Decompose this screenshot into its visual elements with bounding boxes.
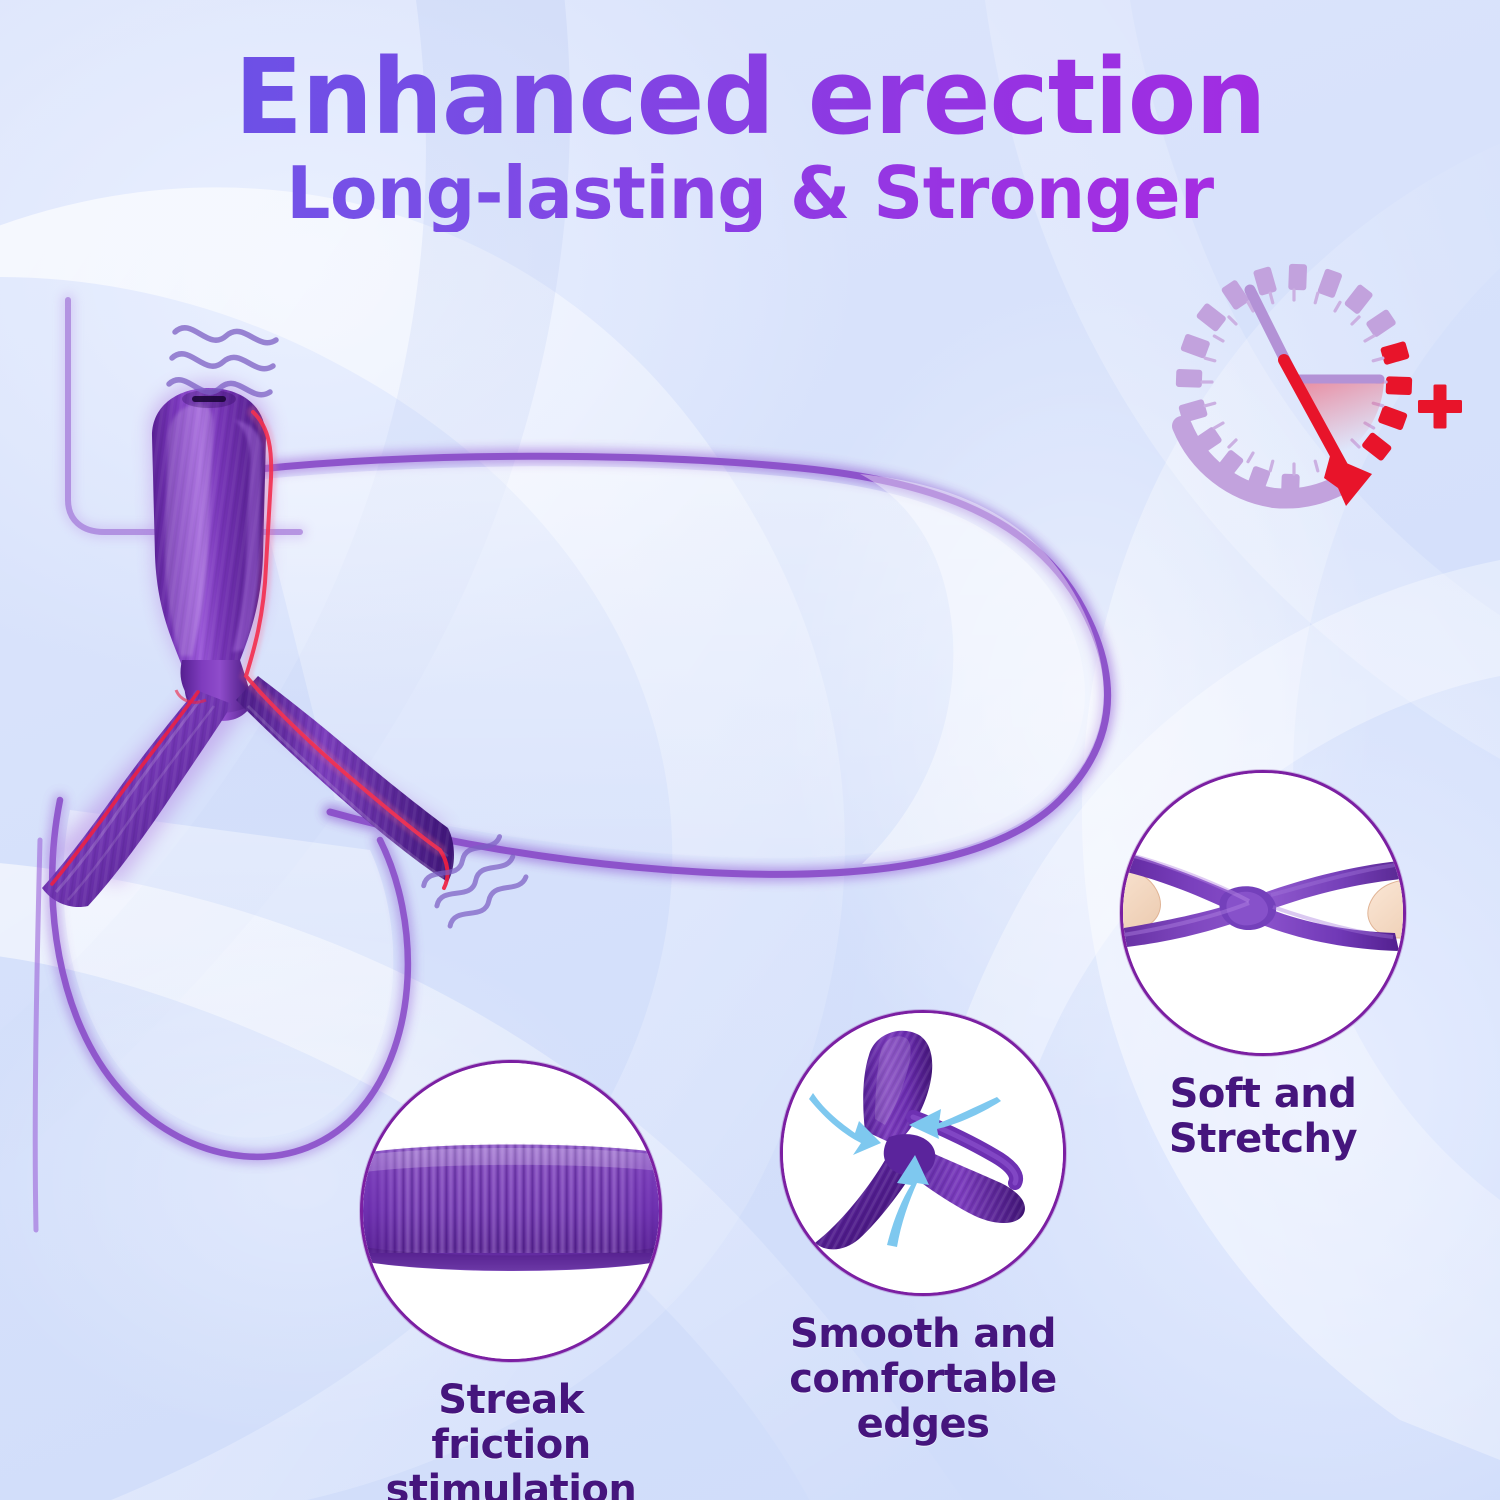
- page-subtitle: Long-lasting & Stronger: [30, 156, 1470, 232]
- feature-streak-friction[interactable]: Streak friction stimulation: [360, 1060, 662, 1500]
- product-feature-graphic: Enhanced erection Long-lasting & Stronge…: [0, 0, 1500, 1500]
- page-title: Enhanced erection: [30, 44, 1470, 150]
- headline-block: Enhanced erection Long-lasting & Stronge…: [0, 44, 1500, 232]
- caption-line-1: Smooth and: [780, 1312, 1066, 1357]
- ribbed-texture-band-icon: [360, 1060, 662, 1362]
- stopwatch-timer-icon: [1168, 252, 1468, 524]
- caption-line-2: comfortable edges: [780, 1357, 1066, 1447]
- caption-line-1: Streak friction: [360, 1378, 662, 1468]
- stretched-band-fingers-icon: [1120, 770, 1406, 1056]
- caption-line-1: Soft and: [1120, 1072, 1406, 1117]
- feature-caption: Streak friction stimulation: [360, 1378, 662, 1500]
- feature-caption: Smooth and comfortable edges: [780, 1312, 1066, 1446]
- feature-soft-stretchy[interactable]: Soft and Stretchy: [1120, 770, 1406, 1162]
- feature-caption: Soft and Stretchy: [1120, 1072, 1406, 1162]
- feature-smooth-edges[interactable]: Smooth and comfortable edges: [780, 1010, 1066, 1446]
- smooth-edges-product-icon: [780, 1010, 1066, 1296]
- vibration-waves-top: [169, 328, 276, 395]
- caption-line-2: Stretchy: [1120, 1117, 1406, 1162]
- stopwatch-timer-badge: [1168, 252, 1468, 524]
- caption-line-2: stimulation: [360, 1468, 662, 1500]
- plus-icon: [1418, 385, 1462, 429]
